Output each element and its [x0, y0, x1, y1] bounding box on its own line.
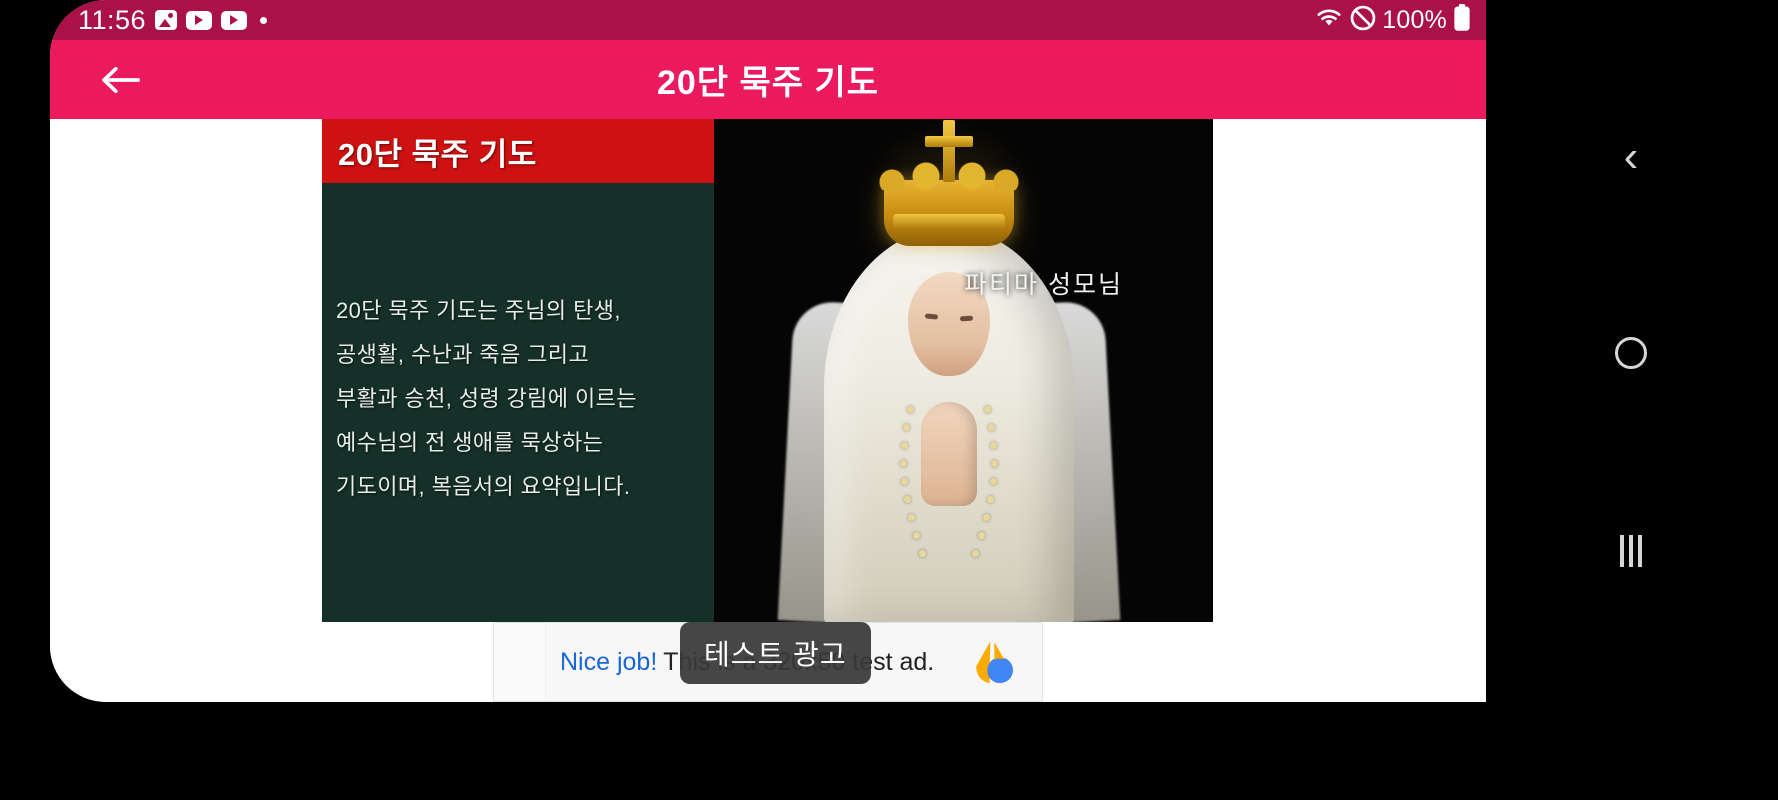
chevron-left-icon: ‹ — [1624, 135, 1639, 179]
do-not-disturb-icon — [1349, 4, 1377, 37]
image-caption: 파티마 성모님 — [964, 265, 1123, 301]
slide-header-title: 20단 묵주 기도 — [338, 129, 537, 174]
screen-root: ‹ 11:56 — [0, 0, 1778, 800]
system-navigation-strip: ‹ — [1486, 0, 1778, 800]
battery-icon — [1452, 4, 1472, 37]
status-bar-left: 11:56 — [78, 7, 1314, 34]
ad-headline: Nice job! — [560, 648, 657, 677]
arrow-left-icon — [99, 63, 141, 97]
slide-header: 20단 묵주 기도 — [322, 119, 714, 183]
crown-shape — [884, 180, 1014, 246]
status-bar-right: 100% — [1314, 4, 1472, 37]
toast-message: 테스트 광고 — [680, 622, 871, 684]
page-title: 20단 묵주 기도 — [50, 55, 1486, 104]
rosary-beads — [889, 402, 1009, 572]
back-button[interactable] — [92, 52, 148, 108]
status-bar: 11:56 — [50, 0, 1486, 40]
slide-body: 20단 묵주 기도는 주님의 탄생, 공생활, 수난과 죽음 그리고 부활과 승… — [322, 183, 714, 622]
crown-band — [893, 214, 1005, 230]
slide-text-panel: 20단 묵주 기도 20단 묵주 기도는 주님의 탄생, 공생활, 수난과 죽음… — [322, 119, 714, 622]
slide-description-text: 20단 묵주 기도는 주님의 탄생, 공생활, 수난과 죽음 그리고 부활과 승… — [336, 289, 702, 509]
cross-icon — [943, 120, 955, 182]
nav-home-button[interactable] — [1596, 318, 1666, 388]
nav-recents-button[interactable] — [1596, 516, 1666, 586]
slide-image-panel: 파티마 성모님 — [714, 119, 1213, 622]
photos-icon — [155, 10, 177, 30]
status-bar-clock: 11:56 — [78, 7, 146, 34]
wifi-icon — [1314, 6, 1344, 35]
ad-side-column — [494, 623, 546, 701]
battery-percent-label: 100% — [1382, 6, 1447, 35]
circle-icon — [1615, 337, 1647, 369]
nav-back-button[interactable]: ‹ — [1596, 122, 1666, 192]
content-area: 20단 묵주 기도 20단 묵주 기도는 주님의 탄생, 공생활, 수난과 죽음… — [50, 119, 1486, 702]
dot-icon — [260, 17, 267, 24]
recents-bars-icon — [1620, 535, 1642, 567]
google-ads-icon — [964, 634, 1020, 690]
statue-illustration — [784, 119, 1114, 622]
lesson-slide[interactable]: 20단 묵주 기도 20단 묵주 기도는 주님의 탄생, 공생활, 수난과 죽음… — [322, 119, 1213, 622]
app-bar: 20단 묵주 기도 — [50, 40, 1486, 119]
youtube-icon — [221, 11, 247, 30]
phone-screen: 11:56 — [50, 0, 1486, 702]
youtube-icon — [186, 11, 212, 30]
